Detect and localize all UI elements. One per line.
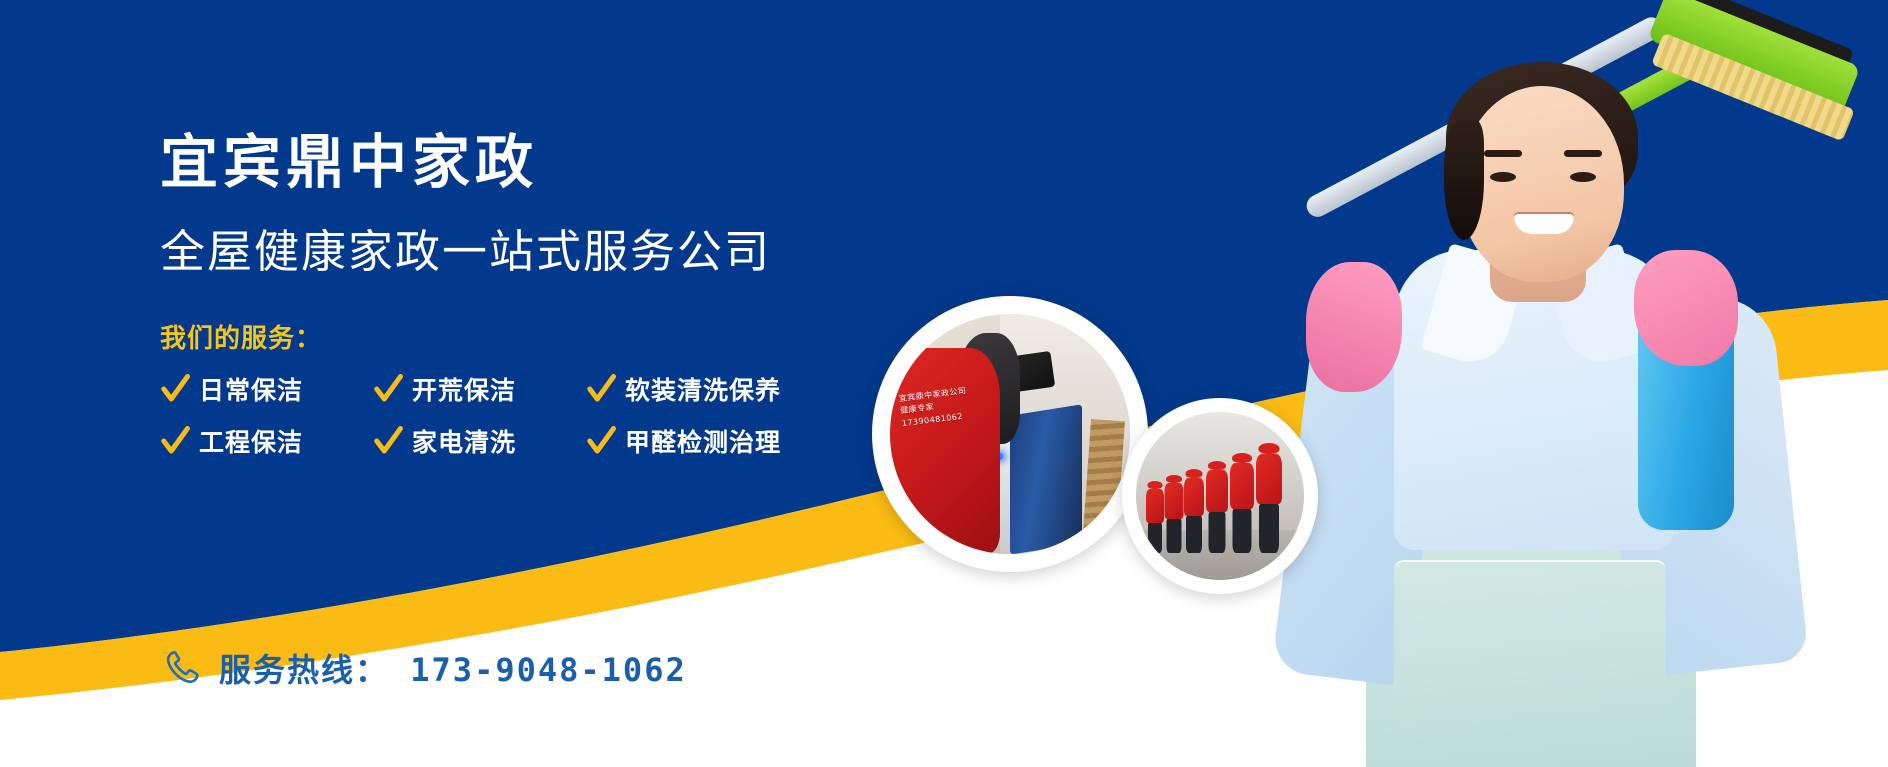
team-member [1146, 481, 1164, 553]
glove-right [1634, 250, 1738, 366]
eye-left [1490, 172, 1516, 182]
hotline[interactable]: 服务热线： 173-9048-1062 [163, 645, 687, 691]
brand-title: 宜宾鼎中家政 [160, 132, 920, 193]
hair-side [1444, 120, 1484, 240]
cleaning-staff-model [1198, 0, 1888, 767]
services-row-1: 日常保洁 开荒保洁 软装清洗保养 [160, 371, 920, 407]
team-member [1164, 475, 1183, 553]
apron-pocket [1394, 560, 1666, 722]
glove-left [1306, 262, 1402, 392]
service-label: 开荒保洁 [412, 371, 560, 407]
services-row-2: 工程保洁 家电清洗 甲醛检测治理 [160, 423, 920, 459]
phone-icon [163, 648, 203, 688]
face [1460, 86, 1624, 282]
photo-a-equipment-case [1010, 404, 1082, 554]
photo-team-lineup-image [1136, 412, 1304, 580]
service-item[interactable]: 甲醛检测治理 [586, 423, 781, 459]
team-member [1256, 443, 1282, 553]
services-label: 我们的服务： [160, 318, 920, 355]
photo-team-lineup [1122, 398, 1318, 594]
team-member [1184, 469, 1204, 553]
mouth [1514, 212, 1574, 234]
service-item[interactable]: 工程保洁 [160, 423, 347, 459]
service-label: 软装清洗保养 [625, 371, 781, 407]
hotline-text: 服务热线： 173-9048-1062 [219, 645, 687, 691]
eye-right [1570, 172, 1596, 182]
headline-block: 宜宾鼎中家政 全屋健康家政一站式服务公司 我们的服务： 日常保洁 开荒保洁 软 [160, 132, 920, 459]
check-icon [586, 374, 616, 404]
service-label: 家电清洗 [412, 423, 560, 459]
team-member [1206, 461, 1228, 553]
promo-banner: 宜宾鼎中家政公司 健康专家 17390481062 [0, 0, 1888, 767]
check-icon [373, 374, 403, 404]
service-item[interactable]: 开荒保洁 [373, 371, 560, 407]
service-label: 日常保洁 [199, 371, 347, 407]
team-member [1230, 453, 1254, 553]
check-icon [373, 426, 403, 456]
check-icon [586, 426, 616, 456]
eyebrow-right [1564, 150, 1602, 157]
service-label: 甲醛检测治理 [625, 423, 781, 459]
service-item[interactable]: 家电清洗 [373, 423, 560, 459]
service-item[interactable]: 软装清洗保养 [586, 371, 781, 407]
brand-subtitle: 全屋健康家政一站式服务公司 [160, 227, 920, 277]
service-label: 工程保洁 [199, 423, 347, 459]
check-icon [160, 374, 190, 404]
service-item[interactable]: 日常保洁 [160, 371, 347, 407]
photo-equipment-worker-image: 宜宾鼎中家政公司 健康专家 17390481062 [890, 314, 1130, 554]
eyebrow-left [1484, 150, 1522, 157]
check-icon [160, 426, 190, 456]
